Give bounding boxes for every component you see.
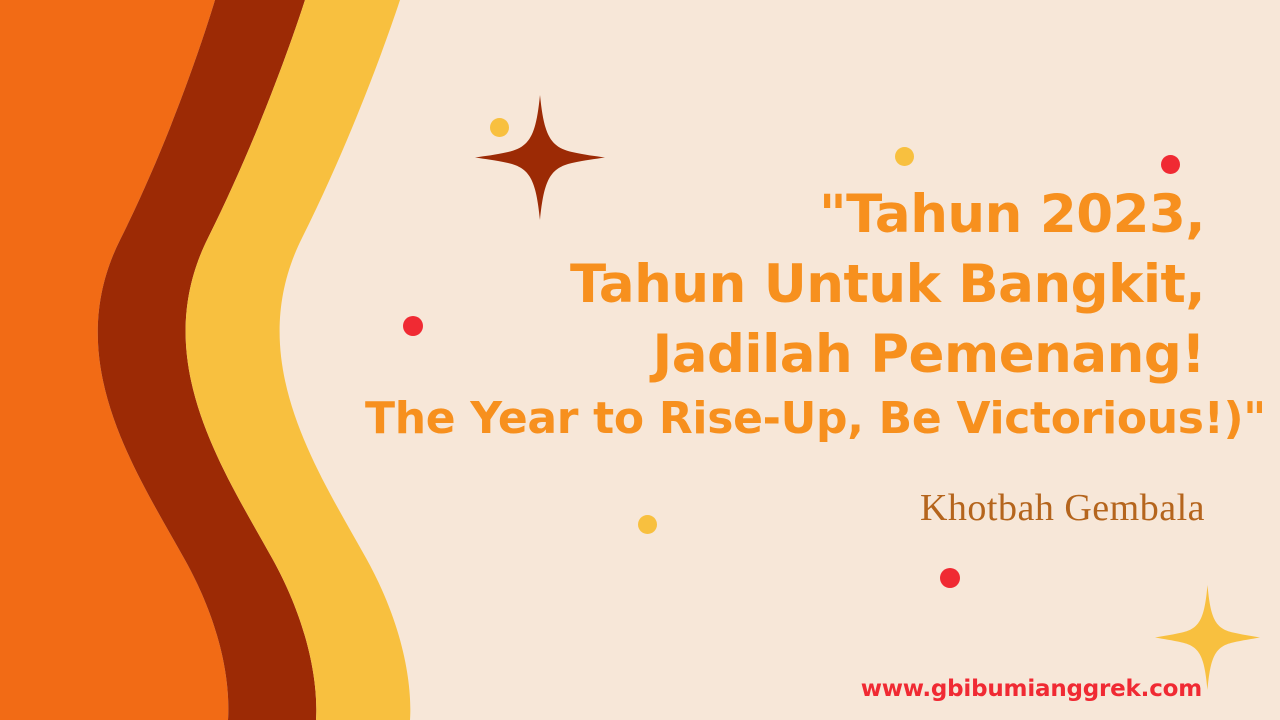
yellow-dot-1 (490, 118, 509, 137)
red-dot-1 (1161, 155, 1180, 174)
headline-line-4: The Year to Rise-Up, Be Victorious!)" (365, 390, 1205, 448)
headline-line-2: Tahun Untuk Bangkit, (365, 250, 1205, 320)
slide-canvas: "Tahun 2023, Tahun Untuk Bangkit, Jadila… (0, 0, 1280, 720)
yellow-dot-2 (895, 147, 914, 166)
headline-line-3: Jadilah Pemenang! (365, 320, 1205, 390)
brown-wave-shape (98, 0, 317, 720)
red-dot-3 (940, 568, 960, 588)
decorative-waves (0, 0, 420, 720)
yellow-sparkle-icon (1155, 585, 1260, 690)
orange-wave-shape (0, 0, 228, 720)
headline-line-1: "Tahun 2023, (365, 180, 1205, 250)
website-url[interactable]: www.gbibumianggrek.com (861, 676, 1202, 702)
headline-block: "Tahun 2023, Tahun Untuk Bangkit, Jadila… (365, 180, 1205, 530)
subtitle: Khotbah Gembala (365, 486, 1205, 530)
